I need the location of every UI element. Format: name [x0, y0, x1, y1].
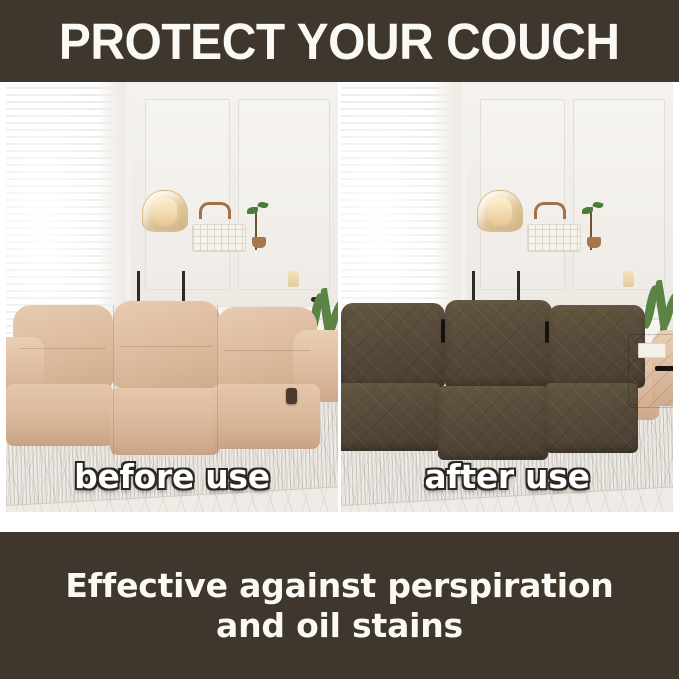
footer-banner: Effective against perspiration and oil s…: [0, 532, 679, 679]
candle-icon: [288, 271, 299, 287]
sofa-after: [341, 301, 673, 482]
seam: [224, 350, 310, 351]
plant-leaf: [247, 207, 258, 214]
quilted-back-cover: [341, 303, 445, 388]
footer-line-1: Effective against perspiration: [65, 566, 613, 606]
before-caption: before use: [6, 457, 338, 496]
sofa-back-cushion: [113, 301, 220, 388]
sofa-before: [6, 301, 338, 482]
before-photo: before use: [6, 82, 338, 512]
plant-leaf: [582, 207, 593, 214]
wall-panel: [238, 99, 330, 290]
elastic-strap: [545, 321, 549, 343]
seam: [113, 305, 114, 457]
product-tag: [638, 343, 666, 358]
lamp-icon: [477, 190, 523, 232]
header-banner: PROTECT YOUR COUCH: [0, 0, 679, 82]
lamp-bulb: [488, 198, 513, 226]
white-divider: [0, 512, 679, 532]
plant-pot: [587, 237, 601, 248]
page-title: PROTECT YOUR COUCH: [59, 16, 620, 67]
before-after-comparison: before use: [6, 82, 673, 512]
quilted-seat-cover: [438, 386, 548, 460]
quilted-seat-cover: [545, 383, 638, 453]
basket-icon: [527, 224, 581, 252]
quilted-seat-cover: [341, 383, 441, 452]
plant-pot: [252, 237, 266, 248]
lamp-icon: [142, 190, 188, 232]
basket-icon: [192, 224, 246, 252]
sofa-seat-cushion: [110, 388, 220, 455]
seam: [217, 305, 218, 457]
footer-line-2: and oil stains: [216, 606, 463, 646]
lamp-bulb: [153, 198, 178, 226]
basket-handle: [534, 202, 566, 219]
wall-panel: [573, 99, 665, 290]
product-marketing-image: PROTECT YOUR COUCH: [0, 0, 679, 679]
sofa-seat-cushion: [213, 384, 320, 449]
elastic-strap: [441, 319, 445, 342]
candle-icon: [623, 271, 634, 287]
quilted-back-cover: [445, 300, 552, 388]
after-caption: after use: [341, 457, 673, 496]
sofa-seat-cushion: [6, 384, 113, 445]
after-photo: after use: [341, 82, 673, 512]
basket-handle: [199, 202, 231, 219]
recliner-handle: [286, 388, 297, 404]
